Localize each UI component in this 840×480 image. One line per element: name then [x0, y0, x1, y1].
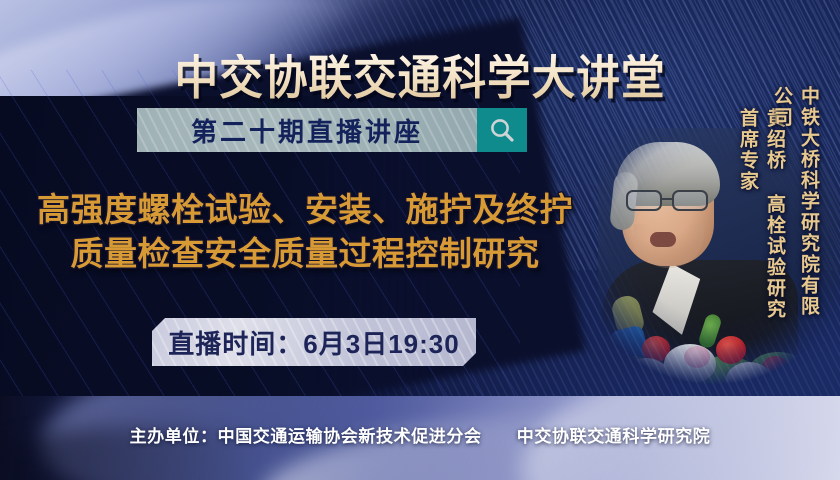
footer-band: 主办单位：中国交通运输协会新技术促进分会 中交协联交通科学研究院	[0, 396, 840, 480]
photo-mouth	[650, 232, 676, 247]
episode-label: 第二十期直播讲座	[191, 112, 423, 149]
broadcast-time-badge: 直播时间：6月3日19:30	[152, 318, 476, 366]
glasses-icon	[624, 190, 714, 211]
lecture-topic-line1: 高强度螺栓试验、安装、施拧及终拧	[37, 191, 573, 228]
episode-label-area: 第二十期直播讲座	[137, 108, 477, 152]
page-title: 中交协联交通科学大讲堂	[29, 54, 810, 101]
organizer-credits: 主办单位：中国交通运输协会新技术促进分会 中交协联交通科学研究院	[0, 422, 840, 447]
lecture-topic: 高强度螺栓试验、安装、施拧及终拧 质量检查安全质量过程控制研究	[8, 188, 602, 275]
speaker-organization: 中铁大桥科学研究院有限公司	[768, 86, 822, 336]
episode-subtitle-bar: 第二十期直播讲座	[137, 108, 527, 152]
search-button[interactable]	[477, 108, 527, 152]
lecture-topic-line2: 质量检查安全质量过程控制研究	[8, 232, 602, 276]
search-icon	[488, 116, 516, 144]
broadcast-time-text: 直播时间：6月3日19:30	[168, 324, 459, 361]
livestream-promo-poster: 中交协联交通科学大讲堂 第二十期直播讲座 高强度螺栓试验、安装、施拧及终拧 质量…	[0, 0, 840, 480]
